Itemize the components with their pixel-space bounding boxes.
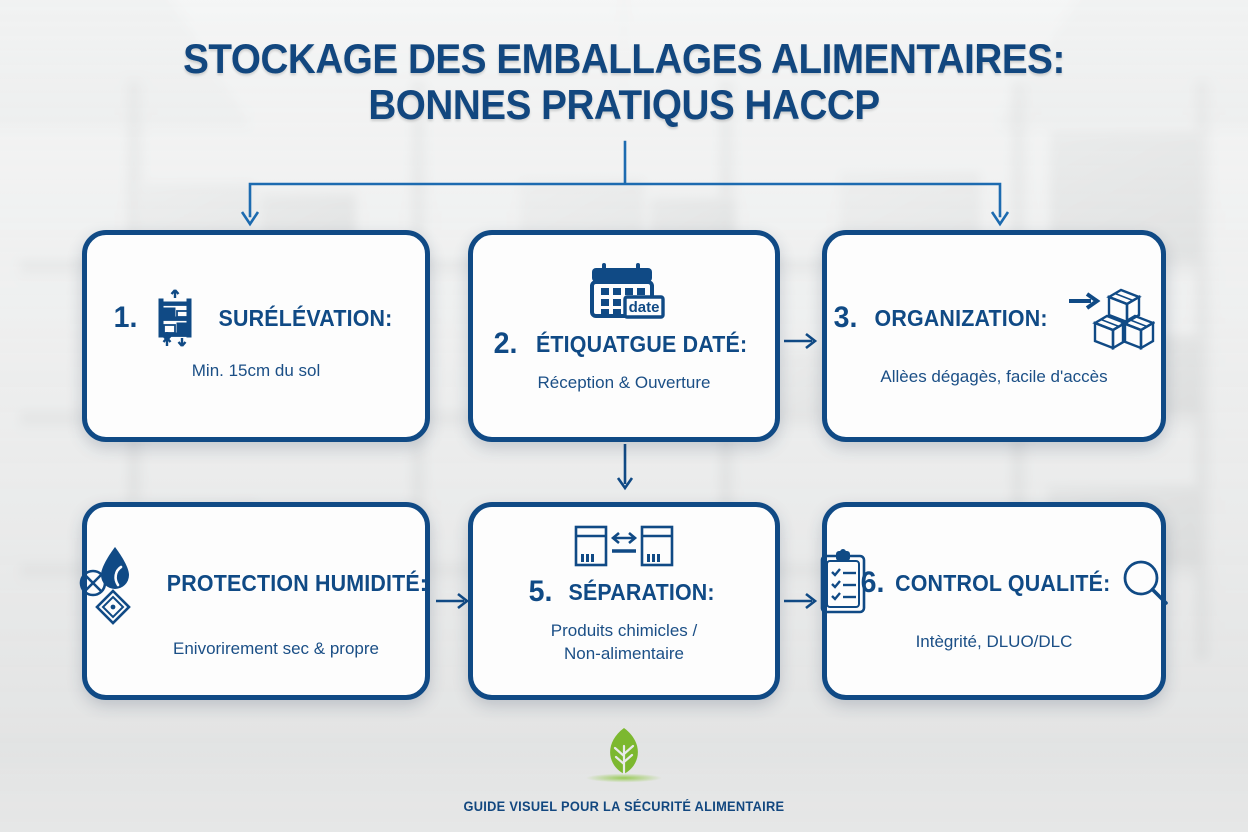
card-6-number: 6. — [860, 568, 884, 598]
no-moisture-droplet-icon — [75, 541, 149, 625]
card-1-headline: SURÉLÉVATION: — [219, 305, 393, 332]
green-leaf-icon — [579, 726, 669, 793]
connector-arrow-card2-to-card3 — [782, 328, 822, 354]
card-control-qualite[interactable]: 6. CONTROL QUALITÉ: Intègrité, DLUO/DLC — [822, 502, 1166, 700]
card-6-header: 6. CONTROL QUALITÉ: — [816, 548, 1173, 618]
card-5-header: 5. SÉPARATION: — [528, 577, 720, 607]
card-etiquetage-date[interactable]: date 2. ÉTIQUATGUE DATÉ: Réception & Ouv… — [468, 230, 780, 442]
card-2-number: 2. — [493, 329, 517, 359]
card-5-number: 5. — [528, 577, 552, 607]
page-title-line-2: BONNES PRATIQUS HACCP — [50, 82, 1198, 128]
card-separation[interactable]: 5. SÉPARATION: Produits chimicles / Non-… — [468, 502, 780, 700]
stacked-boxes-arrow-icon — [1065, 283, 1155, 353]
card-4-header: PROTECTION HUMIDITÉ: — [75, 541, 437, 625]
calendar-icon-label: date — [629, 299, 660, 316]
card-3-headline: ORGANIZATION: — [875, 305, 1048, 332]
card-4-subtitle: Enivorirement sec & propre — [173, 637, 379, 660]
card-5-headline: SÉPARATION: — [568, 579, 714, 606]
card-3-header: 3. ORGANIZATION: — [833, 283, 1154, 353]
card-6-subtitle: Intègrité, DLUO/DLC — [916, 630, 1073, 653]
connector-arrow-card2-to-card5 — [612, 442, 638, 498]
footer: GUIDE VISUEL POUR LA SÉCURITÉ ALIMENTAIR… — [0, 726, 1248, 814]
card-6-headline: CONTROL QUALITÉ: — [895, 570, 1110, 597]
separated-containers-icon — [572, 521, 676, 571]
card-5-subtitle: Produits chimicles / Non-alimentaire — [551, 619, 697, 665]
card-2-subtitle: Réception & Ouverture — [538, 371, 711, 394]
card-organization[interactable]: 3. ORGANIZATION: — [822, 230, 1166, 442]
card-1-header: 1. — [113, 289, 399, 347]
card-4-headline: PROTECTION HUMIDITÉ: — [167, 570, 427, 597]
card-2-header: 2. ÉTIQUATGUE DATÉ: — [493, 329, 755, 359]
magnifier-icon — [1120, 557, 1172, 609]
card-3-number: 3. — [834, 303, 858, 333]
card-protection-humidite[interactable]: PROTECTION HUMIDITÉ: Enivorirement sec &… — [82, 502, 430, 700]
card-5-subtitle-line-2: Non-alimentaire — [564, 644, 684, 663]
shelving-rack-icon — [148, 289, 202, 347]
footer-text: GUIDE VISUEL POUR LA SÉCURITÉ ALIMENTAIR… — [464, 799, 785, 814]
connector-top-branch — [230, 140, 1020, 240]
card-surelevation[interactable]: 1. — [82, 230, 430, 442]
card-3-subtitle: Allèes dégagès, facile d'accès — [880, 365, 1107, 388]
card-2-headline: ÉTIQUATGUE DATÉ: — [536, 331, 747, 358]
calendar-date-icon: date — [582, 259, 666, 325]
card-1-number: 1. — [114, 303, 138, 333]
card-5-subtitle-line-1: Produits chimicles / — [551, 621, 697, 640]
page-title-line-1: STOCKAGE DES EMBALLAGES ALIMENTAIRES: — [183, 35, 1065, 82]
card-1-subtitle: Min. 15cm du sol — [192, 359, 321, 382]
page-title: STOCKAGE DES EMBALLAGES ALIMENTAIRES: BO… — [50, 36, 1198, 128]
